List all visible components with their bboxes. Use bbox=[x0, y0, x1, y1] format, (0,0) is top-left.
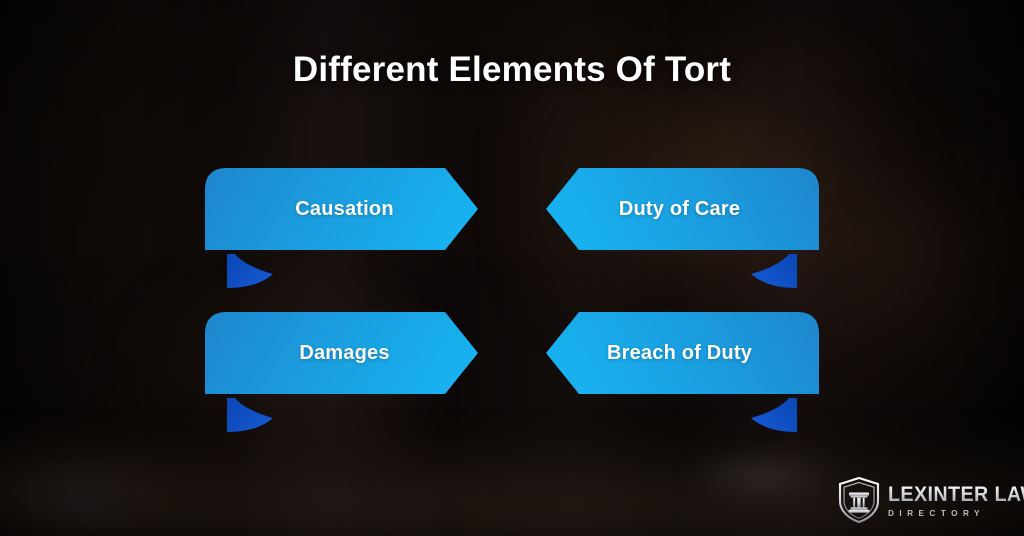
page-title: Different Elements Of Tort bbox=[0, 50, 1024, 90]
background-desk-highlight bbox=[0, 440, 220, 536]
ribbon-tail bbox=[227, 254, 273, 288]
element-label: Damages bbox=[205, 312, 478, 394]
element-label: Duty of Care bbox=[546, 168, 819, 250]
background-blue-object-blur bbox=[22, 476, 130, 532]
brand-logo[interactable]: LEXINTER LAW DIRECTORY bbox=[838, 474, 1016, 526]
ribbon-tail bbox=[751, 254, 797, 288]
background-paper-blur bbox=[690, 452, 840, 500]
element-card-duty-of-care[interactable]: Duty of Care bbox=[546, 168, 819, 294]
element-card-breach-of-duty[interactable]: Breach of Duty bbox=[546, 312, 819, 438]
logo-name: LEXINTER LAW bbox=[888, 484, 1024, 505]
element-label: Breach of Duty bbox=[546, 312, 819, 394]
element-card-damages[interactable]: Damages bbox=[205, 312, 478, 438]
element-card-causation[interactable]: Causation bbox=[205, 168, 478, 294]
background-bookshelf-blur bbox=[0, 0, 1024, 260]
element-label: Causation bbox=[205, 168, 478, 250]
logo-text-block: LEXINTER LAW DIRECTORY bbox=[888, 482, 1024, 518]
ribbon-tail bbox=[227, 398, 273, 432]
shield-column-icon bbox=[838, 477, 880, 523]
logo-subtitle: DIRECTORY bbox=[888, 509, 1024, 518]
infographic-canvas: Different Elements Of Tort bbox=[0, 0, 1024, 536]
ribbon-tail bbox=[751, 398, 797, 432]
